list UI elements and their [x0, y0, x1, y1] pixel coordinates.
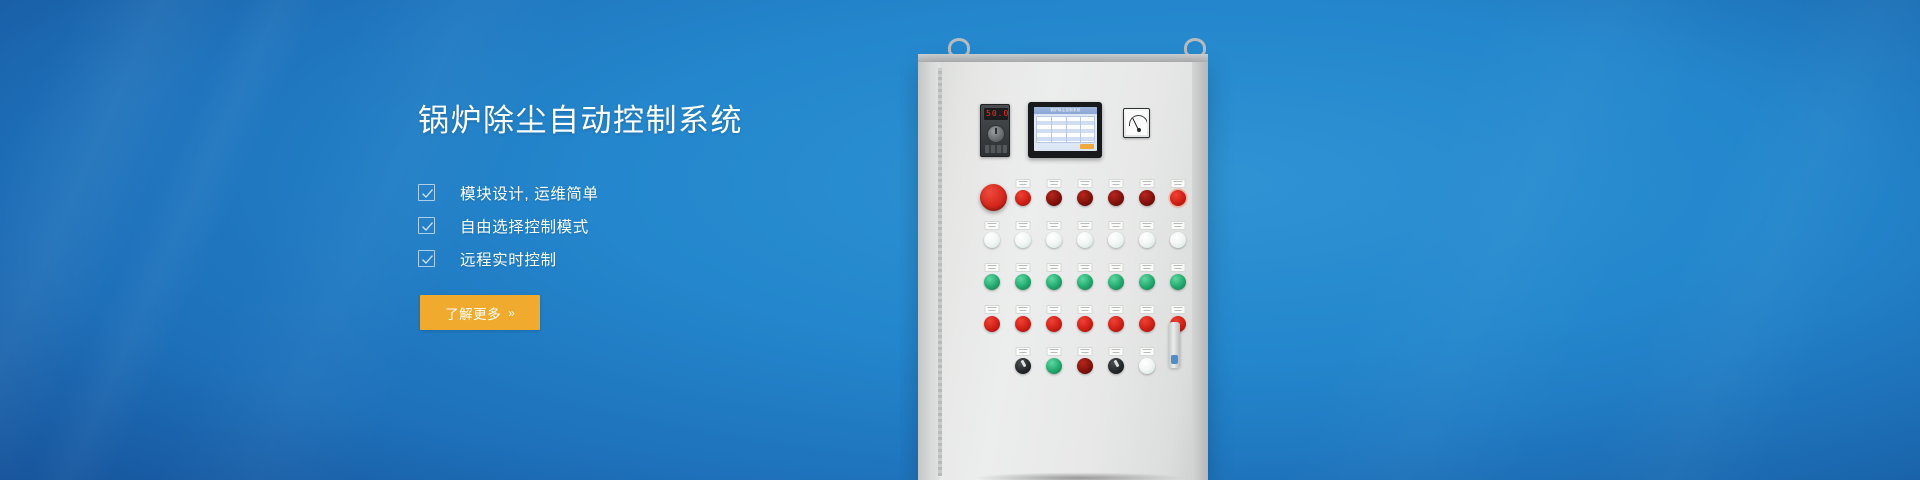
indicator-button[interactable]: [1077, 190, 1093, 206]
indicator-button[interactable]: [1015, 190, 1031, 206]
indicator-button[interactable]: [984, 316, 1000, 332]
indicator-button[interactable]: [1108, 316, 1124, 332]
learn-more-button[interactable]: 了解更多 »: [420, 295, 540, 330]
learn-more-label: 了解更多: [445, 303, 501, 323]
list-item-label: 远程实时控制: [460, 248, 557, 270]
control-cabinet: 50.0 锅炉除尘控制系统: [918, 54, 1208, 480]
feature-list: 模块设计, 运维简单 自由选择控制模式 远程实时控制: [418, 176, 938, 275]
indicator-button[interactable]: [1077, 274, 1093, 290]
list-item-label: 自由选择控制模式: [460, 215, 589, 237]
indicator-button[interactable]: [1139, 232, 1155, 248]
indicator-button[interactable]: [1108, 232, 1124, 248]
indicator-button[interactable]: [1046, 232, 1062, 248]
indicator-button[interactable]: [1046, 316, 1062, 332]
list-item: 模块设计, 运维简单: [418, 176, 938, 209]
indicator-button[interactable]: [1139, 190, 1155, 206]
indicator-button[interactable]: [1015, 316, 1031, 332]
hero-banner: 锅炉除尘自动控制系统 模块设计, 运维简单 自由选择控制模式: [0, 0, 1920, 480]
indicator-button[interactable]: [1170, 274, 1186, 290]
indicator-button[interactable]: [1170, 232, 1186, 248]
indicator-button[interactable]: [1170, 190, 1186, 206]
indicator-button[interactable]: [1139, 274, 1155, 290]
indicator-button[interactable]: [1077, 358, 1093, 374]
indicator-button[interactable]: [1015, 232, 1031, 248]
indicator-button[interactable]: [1077, 316, 1093, 332]
emergency-stop-button[interactable]: [980, 184, 1007, 211]
indicator-button[interactable]: [1108, 190, 1124, 206]
checkbox-checked-icon: [418, 217, 435, 234]
pushbutton-matrix: [918, 54, 1208, 474]
cabinet-door-handle[interactable]: [1169, 322, 1180, 368]
selector-switch[interactable]: [1108, 358, 1124, 374]
hero-copy: 锅炉除尘自动控制系统 模块设计, 运维简单 自由选择控制模式: [418, 104, 938, 275]
indicator-button[interactable]: [1139, 358, 1155, 374]
list-item: 远程实时控制: [418, 242, 938, 275]
checkbox-checked-icon: [418, 250, 435, 267]
indicator-button[interactable]: [1077, 232, 1093, 248]
indicator-button[interactable]: [1046, 274, 1062, 290]
cabinet-shadow: [928, 470, 1228, 480]
selector-switch[interactable]: [1015, 358, 1031, 374]
indicator-button[interactable]: [1015, 274, 1031, 290]
indicator-button[interactable]: [984, 232, 1000, 248]
list-item: 自由选择控制模式: [418, 209, 938, 242]
list-item-label: 模块设计, 运维简单: [460, 182, 599, 204]
indicator-button[interactable]: [1046, 190, 1062, 206]
indicator-button[interactable]: [1108, 274, 1124, 290]
product-image: 50.0 锅炉除尘控制系统: [900, 0, 1920, 480]
chevron-right-icon: »: [508, 306, 515, 320]
checkbox-checked-icon: [418, 184, 435, 201]
indicator-button[interactable]: [1046, 358, 1062, 374]
indicator-button[interactable]: [984, 274, 1000, 290]
indicator-button[interactable]: [1139, 316, 1155, 332]
page-title: 锅炉除尘自动控制系统: [418, 104, 938, 138]
